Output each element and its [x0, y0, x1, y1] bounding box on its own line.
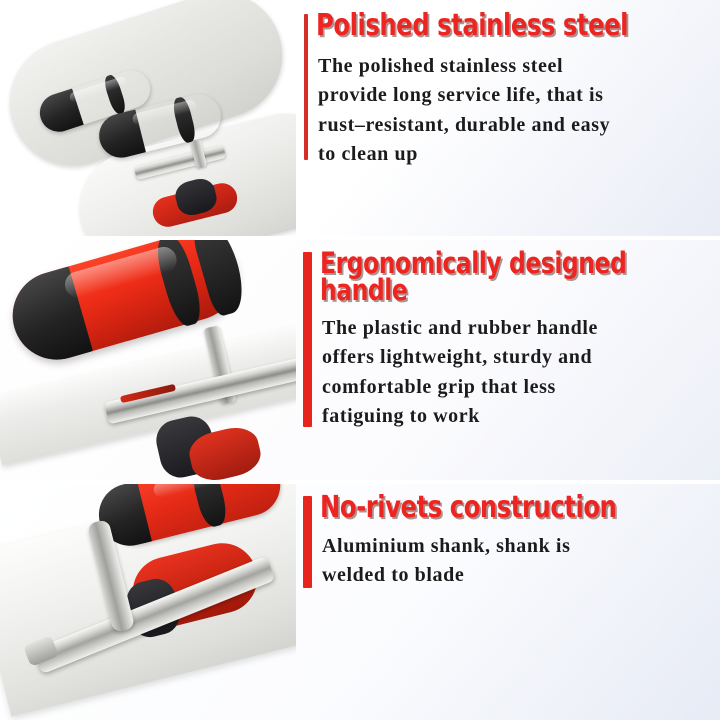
feature-body-3: Aluminium shank, shank is welded to blad…	[322, 532, 694, 591]
feature-body-1: The polished stainless steel provide lon…	[318, 52, 710, 170]
accent-bar-1	[304, 14, 308, 160]
feature-body-2: The plastic and rubber handle offers lig…	[322, 314, 704, 432]
feature-panel-3: No-rivets construction Aluminium shank, …	[0, 484, 720, 720]
feature-image-2	[0, 240, 296, 480]
feature-heading-3: No-rivets construction	[320, 494, 616, 522]
feature-text-1: Polished stainless steel The polished st…	[296, 0, 720, 236]
feature-heading-2: Ergonomically designed handle	[320, 250, 626, 304]
feature-panel-2: Ergonomically designed handle The plasti…	[0, 240, 720, 480]
feature-image-3	[0, 484, 296, 720]
feature-text-3: No-rivets construction Aluminium shank, …	[296, 484, 720, 720]
feature-infographic: Polished stainless steel The polished st…	[0, 0, 720, 720]
handle-grip-band-icon	[189, 484, 230, 529]
feature-panel-1: Polished stainless steel The polished st…	[0, 0, 720, 236]
feature-text-2: Ergonomically designed handle The plasti…	[296, 240, 720, 480]
accent-bar-3	[303, 496, 312, 588]
accent-bar-2	[303, 252, 312, 427]
feature-image-1	[0, 0, 296, 236]
feature-heading-1: Polished stainless steel	[316, 12, 628, 40]
handle-highlight	[62, 244, 180, 301]
